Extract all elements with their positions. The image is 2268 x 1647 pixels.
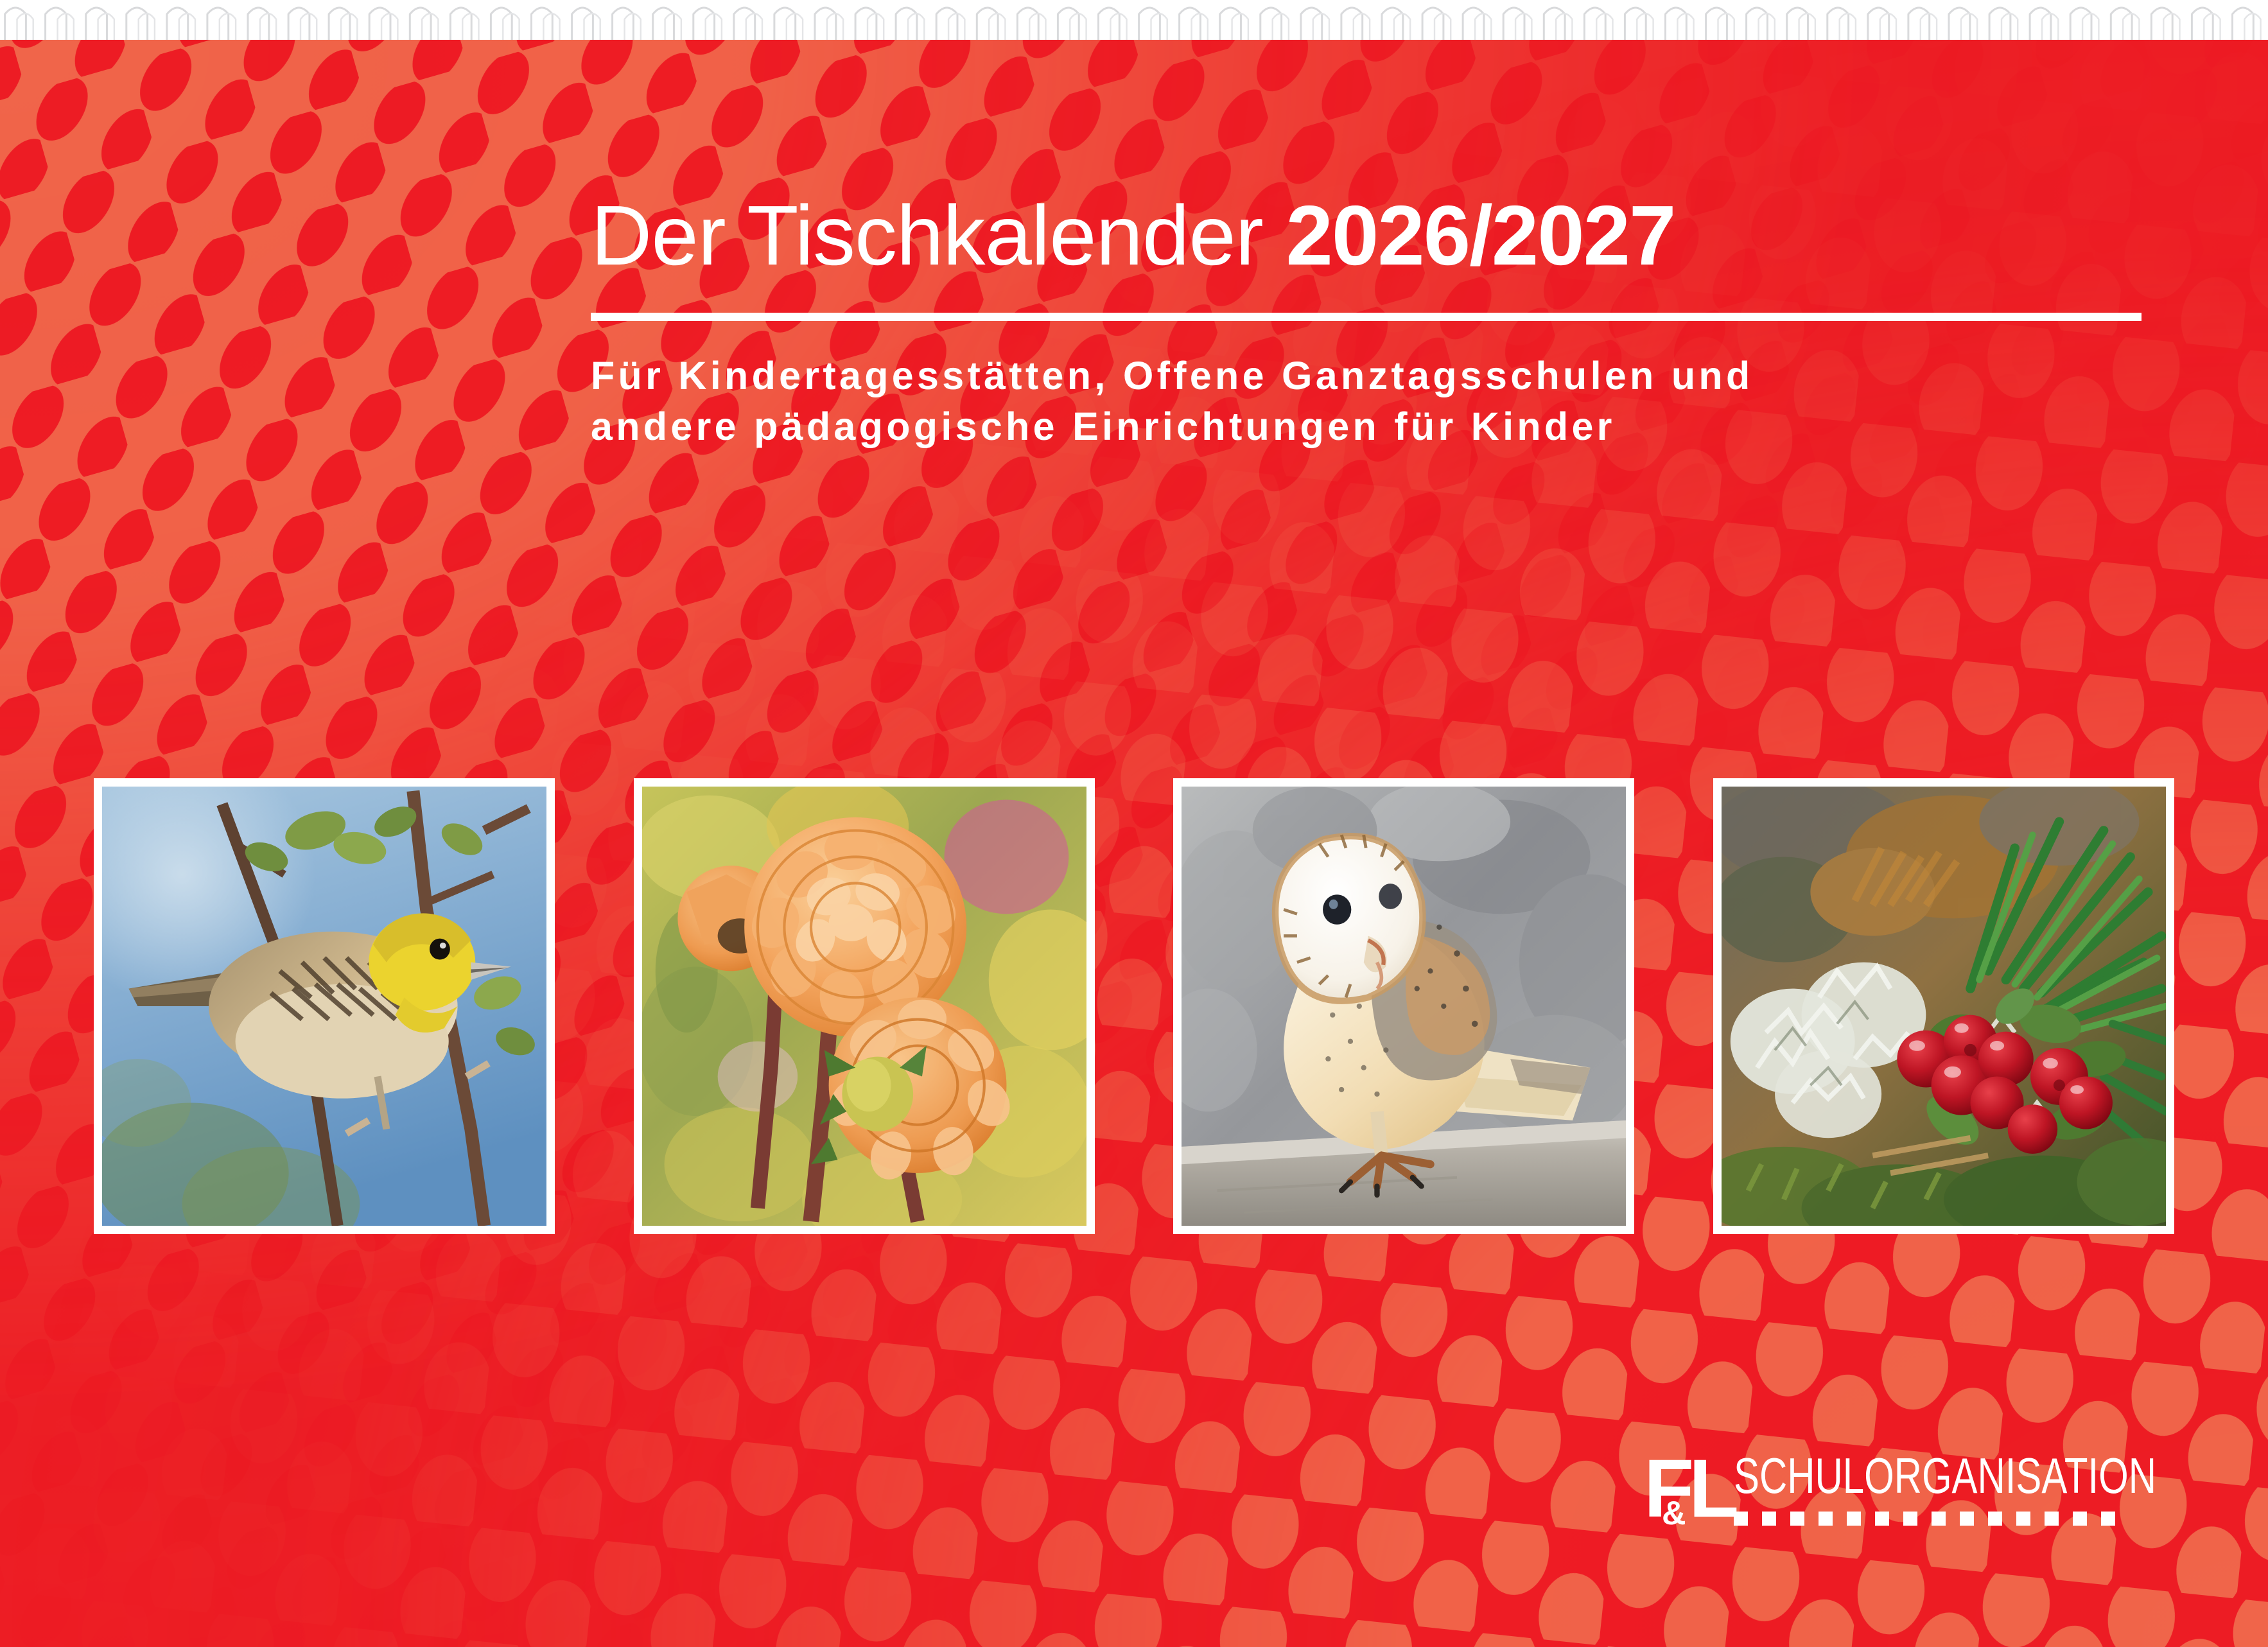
subtitle-line-1: Für Kindertagesstätten, Offene Ganztagss… (591, 351, 2145, 401)
calendar-cover: Der Tischkalender 2026/2027 Für Kinderta… (0, 0, 2268, 1647)
subtitle-line-2: andere pädagogische Einrichtungen für Ki… (591, 401, 2145, 452)
photo-orange-dahlia-flowers (642, 787, 1086, 1226)
photo-frame-lingonberries[interactable] (1713, 778, 2174, 1234)
title-main-text: Der Tischkalender (591, 188, 1286, 283)
title-divider-rule (591, 313, 2142, 321)
photo-barn-owl (1182, 787, 1626, 1226)
header-block: Der Tischkalender 2026/2027 Für Kinderta… (591, 193, 2145, 452)
spiral-binding (0, 0, 2268, 40)
photo-frame-barn-owl[interactable] (1173, 778, 1634, 1234)
photo-frame-yellowhammer[interactable] (94, 778, 555, 1234)
page-title: Der Tischkalender 2026/2027 (591, 193, 2145, 279)
title-years-text: 2026/2027 (1286, 188, 1675, 283)
photo-frame-dahlias[interactable] (634, 778, 1095, 1234)
svg-text:L: L (1689, 1445, 1739, 1535)
logo-fl-schulorganisation[interactable]: F L & SCHULORGANISATION (1644, 1445, 2158, 1560)
photo-yellowhammer-bird (102, 787, 546, 1226)
photo-lingonberries-lichen (1722, 787, 2166, 1226)
svg-text:&: & (1662, 1495, 1686, 1532)
photo-strip (94, 778, 2174, 1234)
svg-text:SCHULORGANISATION: SCHULORGANISATION (1734, 1447, 2156, 1504)
subtitle: Für Kindertagesstätten, Offene Ganztagss… (591, 351, 2145, 453)
